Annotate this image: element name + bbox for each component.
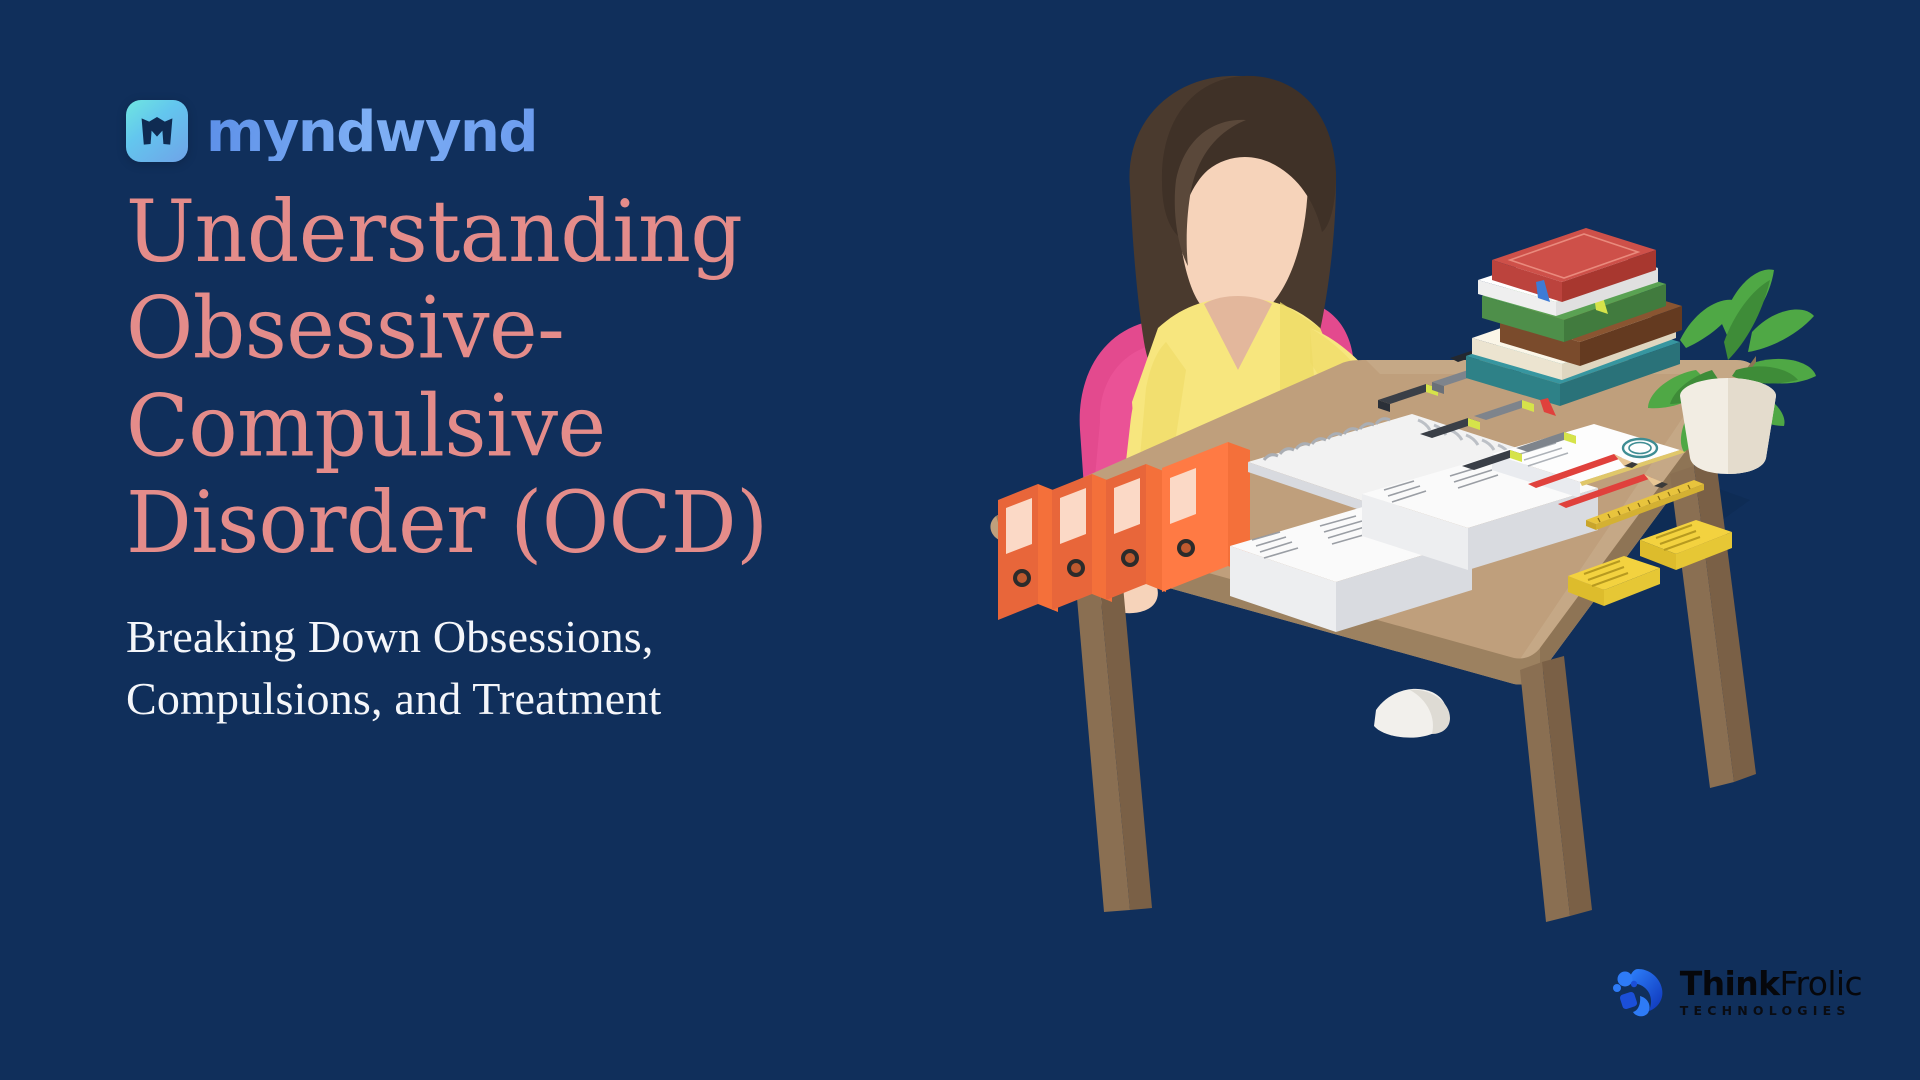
subtitle-line-1: Breaking Down Obsessions, [126, 606, 1006, 668]
subtitle-line-2: Compulsions, and Treatment [126, 668, 1006, 730]
thinkfrolic-swirl-icon [1612, 966, 1668, 1018]
myndwynd-m-icon [126, 100, 188, 162]
thinkfrolic-name-bold: Think [1680, 964, 1780, 1003]
brand-logo[interactable]: myndwynd [126, 96, 1006, 166]
headline-line-2: Obsessive- [126, 281, 1006, 378]
headline-line-4: Disorder (OCD) [126, 476, 1006, 573]
headline-line-3: Compulsive [126, 378, 1006, 475]
slide-canvas: myndwynd Understanding Obsessive- Compul… [0, 0, 1920, 1080]
thinkfrolic-name-light: Frolic [1780, 964, 1863, 1003]
headline-line-1: Understanding [126, 184, 1006, 281]
page-subtitle: Breaking Down Obsessions, Compulsions, a… [126, 606, 1006, 730]
thinkfrolic-name: ThinkFrolic [1680, 967, 1862, 1000]
brand-wordmark: myndwynd [206, 105, 537, 161]
thinkfrolic-tagline: TECHNOLOGIES [1680, 1005, 1862, 1018]
left-content-column: myndwynd Understanding Obsessive- Compul… [126, 96, 1006, 730]
page-title: Understanding Obsessive- Compulsive Diso… [126, 184, 1006, 573]
isometric-woman-at-desk-illustration [980, 70, 1820, 1000]
thinkfrolic-logo[interactable]: ThinkFrolic TECHNOLOGIES [1612, 966, 1862, 1018]
thinkfrolic-text: ThinkFrolic TECHNOLOGIES [1680, 967, 1862, 1018]
